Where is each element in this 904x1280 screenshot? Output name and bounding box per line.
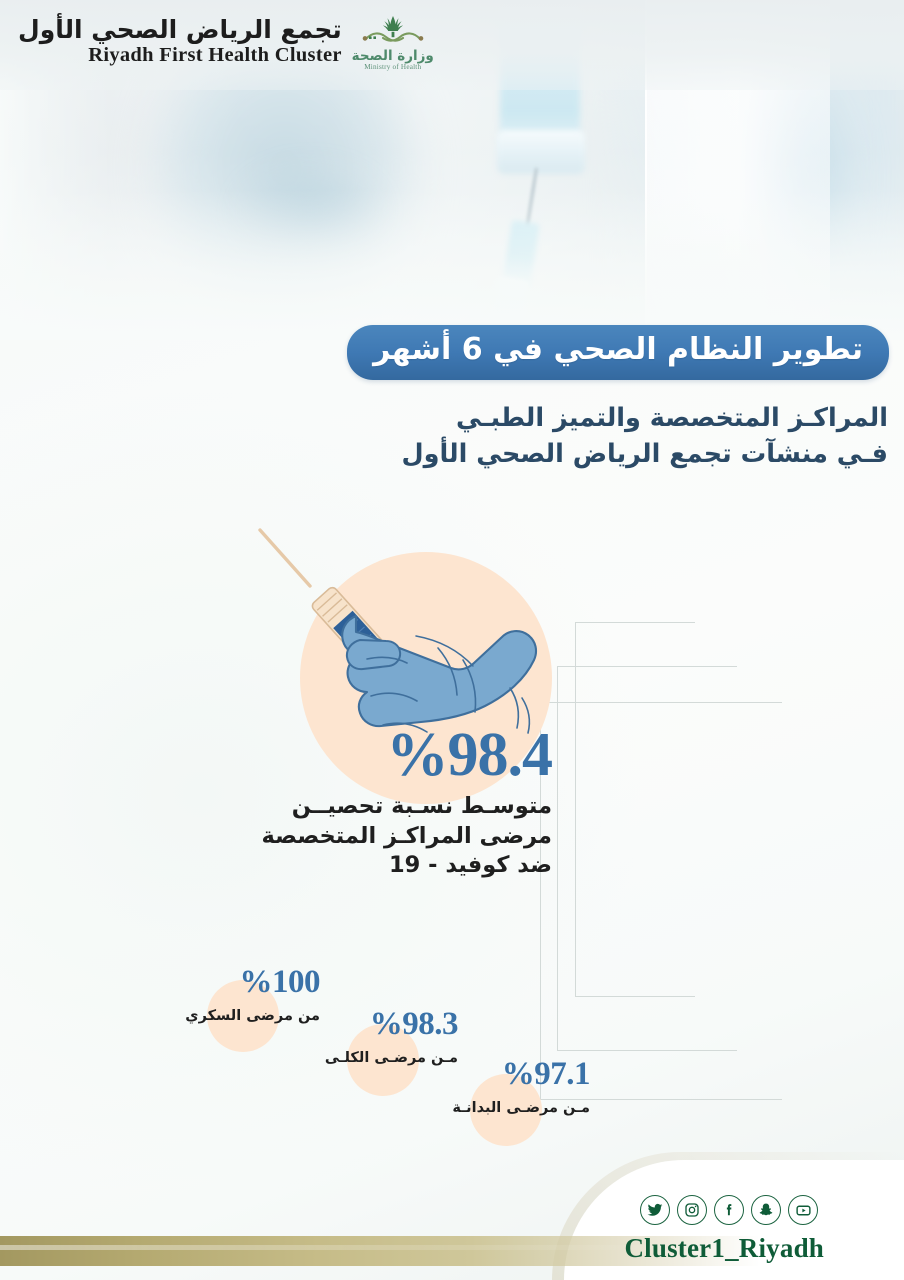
social-handle: Cluster1_Riyadh [624, 1233, 824, 1264]
instagram-icon[interactable] [677, 1195, 707, 1225]
sub-stat-value: %98.3 [325, 1008, 458, 1041]
main-desc-line-2: مرضى المراكـز المتخصصة [262, 822, 552, 852]
sub-stat-label: من مرضى السكري [185, 1008, 320, 1024]
snapchat-icon[interactable] [751, 1195, 781, 1225]
banner-title-text: تطوير النظام الصحي في 6 أشهر [373, 332, 863, 369]
main-desc-line-1: متوسـط نسـبة تحصيــن [262, 792, 552, 822]
sub-stat-label: مـن مرضـى البدانـة [452, 1100, 590, 1116]
sub-stat-diabetes: %100 من مرضى السكري [185, 966, 320, 1024]
main-statistic: %98.4 متوسـط نسـبة تحصيــن مرضى المراكـز… [262, 726, 552, 881]
facebook-icon[interactable] [714, 1195, 744, 1225]
sub-stat-value: %97.1 [452, 1058, 590, 1091]
main-desc-line-3: ضد كوفيد - 19 [262, 851, 552, 881]
moh-emblem-icon [350, 14, 436, 50]
sub-stat-kidney: %98.3 مـن مرضـى الكلـى [325, 1008, 458, 1066]
photo-bottom-fade [0, 190, 904, 340]
sub-stat-obesity: %97.1 مـن مرضـى البدانـة [452, 1058, 590, 1116]
infographic-poster: تجمع الرياض الصحي الأول Riyadh First Hea… [0, 0, 904, 1280]
footer-gold-sheen [0, 1245, 700, 1250]
subtitle-line-2: فـي منشآت تجمع الرياض الصحي الأول [401, 436, 888, 472]
youtube-icon[interactable] [788, 1195, 818, 1225]
ministry-name-ar: وزارة الصحة [350, 48, 436, 64]
moh-palm-swords-logo: وزارة الصحة Ministry of Health [350, 14, 436, 76]
social-links [640, 1195, 818, 1225]
sub-stat-value: %100 [185, 966, 320, 999]
brand-logo: تجمع الرياض الصحي الأول Riyadh First Hea… [18, 14, 436, 76]
cluster-name-en: Riyadh First Health Cluster [18, 44, 342, 67]
twitter-icon[interactable] [640, 1195, 670, 1225]
cluster-name-ar: تجمع الرياض الصحي الأول [18, 17, 342, 43]
main-stat-value: %98.4 [262, 726, 552, 785]
sub-stat-label: مـن مرضـى الكلـى [325, 1050, 458, 1066]
main-stat-description: متوسـط نسـبة تحصيــن مرضى المراكـز المتخ… [262, 792, 552, 881]
cluster-name-block: تجمع الرياض الصحي الأول Riyadh First Hea… [18, 14, 342, 67]
banner-title: تطوير النظام الصحي في 6 أشهر [347, 325, 889, 380]
ministry-name-en: Ministry of Health [350, 63, 436, 71]
page-subtitle: المراكـز المتخصصة والتميز الطبـي فـي منش… [401, 400, 888, 472]
subtitle-line-1: المراكـز المتخصصة والتميز الطبـي [401, 400, 888, 436]
